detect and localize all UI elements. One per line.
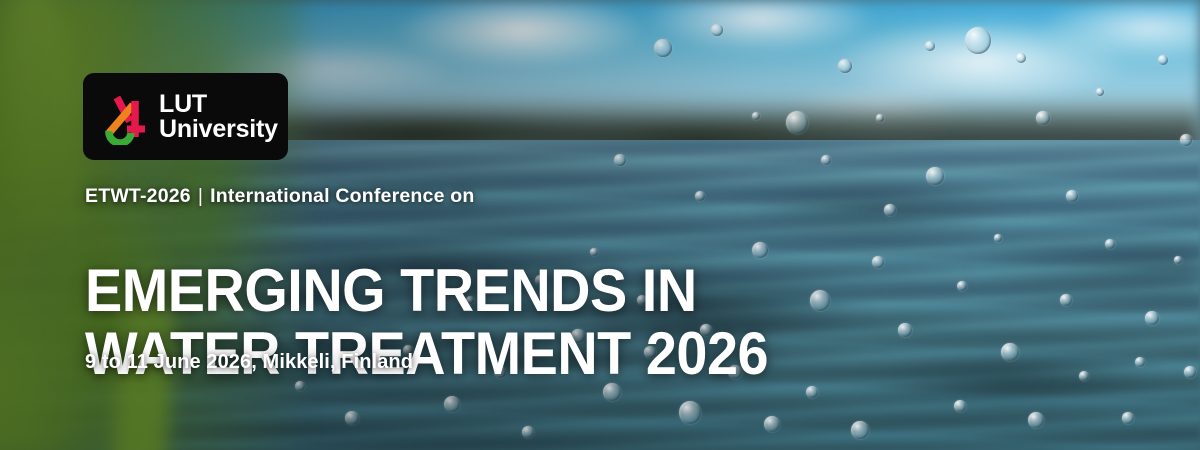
conference-banner: LUT University ETWT-2026|International C… <box>0 0 1200 450</box>
event-dateline: 9 to 11 June 2026, Mikkeli, Finland <box>85 351 413 374</box>
conference-eyebrow: ETWT-2026|International Conference on <box>85 185 474 208</box>
lut-ampersand-mark <box>99 89 147 145</box>
banner-content: LUT University ETWT-2026|International C… <box>85 0 1200 450</box>
eyebrow-text: International Conference on <box>210 185 474 207</box>
headline-line-1: EMERGING TRENDS IN <box>85 259 768 322</box>
logo-wordmark: LUT University <box>159 92 278 142</box>
logo-line-university: University <box>159 117 278 142</box>
lut-university-logo[interactable]: LUT University <box>83 73 288 160</box>
logo-line-lut: LUT <box>159 92 278 117</box>
eyebrow-separator: | <box>191 185 210 207</box>
conference-code: ETWT-2026 <box>85 185 191 207</box>
